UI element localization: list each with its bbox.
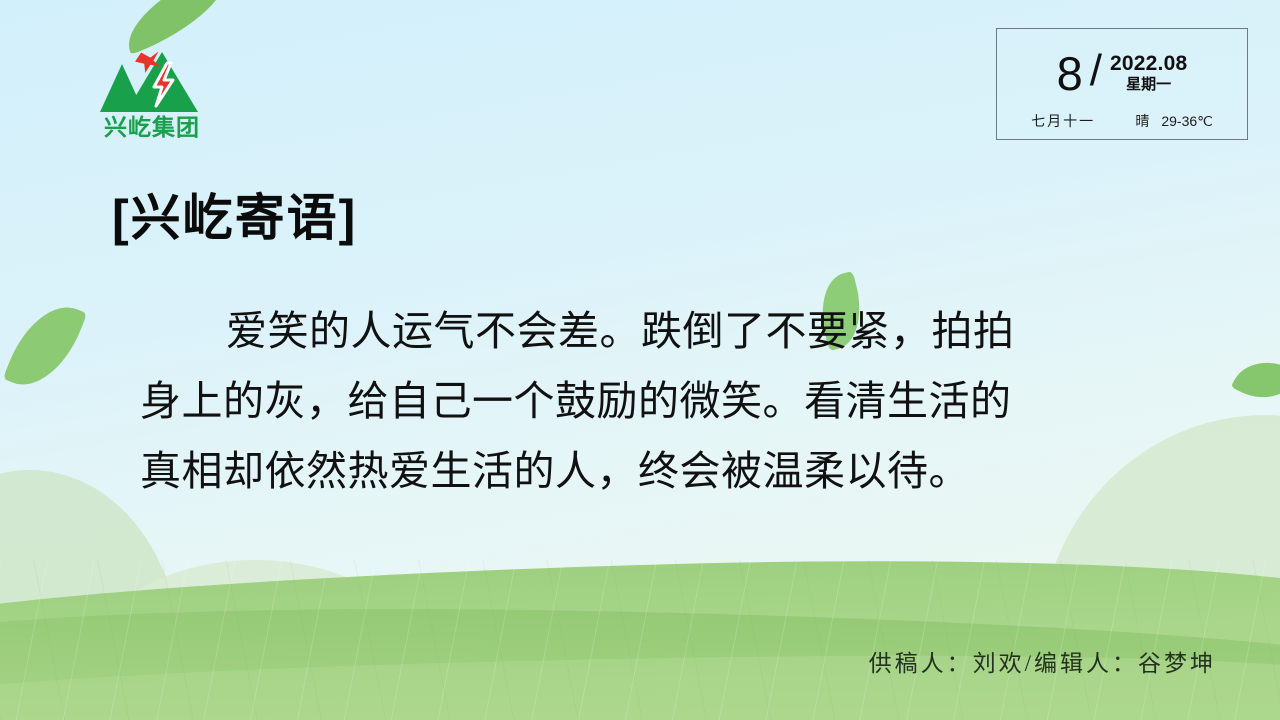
date-card-right: 2022.08 星期一 <box>1110 53 1187 94</box>
mountain-lightning-logo <box>100 51 198 112</box>
brand-logo: 兴屹集团 <box>88 30 216 140</box>
date-card: 8 / 2022.08 星期一 七月十一 晴 29-36℃ <box>996 28 1248 140</box>
body-line-2: 身上的灰，给自己一个鼓励的微笑。看清生活的 <box>140 366 1150 436</box>
lunar-date: 七月十一 <box>1031 111 1095 131</box>
date-card-primary: 8 / 2022.08 星期一 <box>997 29 1247 111</box>
body-line-1: 爱笑的人运气不会差。跌倒了不要紧，拍拍 <box>140 296 1150 366</box>
weather-temperature: 29-36℃ <box>1161 113 1213 130</box>
weather-condition: 晴 <box>1135 111 1151 131</box>
credits-line: 供稿人：刘欢/编辑人：谷梦坤 <box>869 644 1216 678</box>
body-copy: 爱笑的人运气不会差。跌倒了不要紧，拍拍 身上的灰，给自己一个鼓励的微笑。看清生活… <box>140 296 1150 506</box>
date-year-month: 2022.08 <box>1110 53 1187 75</box>
brand-logo-text: 兴屹集团 <box>104 114 200 140</box>
body-line-3: 真相却依然热爱生活的人，终会被温柔以待。 <box>140 436 1150 506</box>
page-title: [兴屹寄语] <box>112 193 357 243</box>
date-separator: / <box>1090 49 1102 93</box>
date-card-secondary: 七月十一 晴 29-36℃ <box>997 111 1247 139</box>
date-weekday: 星期一 <box>1126 77 1171 94</box>
leaf-icon-left <box>3 293 88 399</box>
poster-canvas: 兴屹集团 8 / 2022.08 星期一 七月十一 晴 29-36℃ [兴屹寄语… <box>0 0 1280 720</box>
date-day: 8 <box>1057 50 1082 97</box>
weather-group: 晴 29-36℃ <box>1135 111 1213 131</box>
leaf-icon-right <box>1231 348 1280 412</box>
